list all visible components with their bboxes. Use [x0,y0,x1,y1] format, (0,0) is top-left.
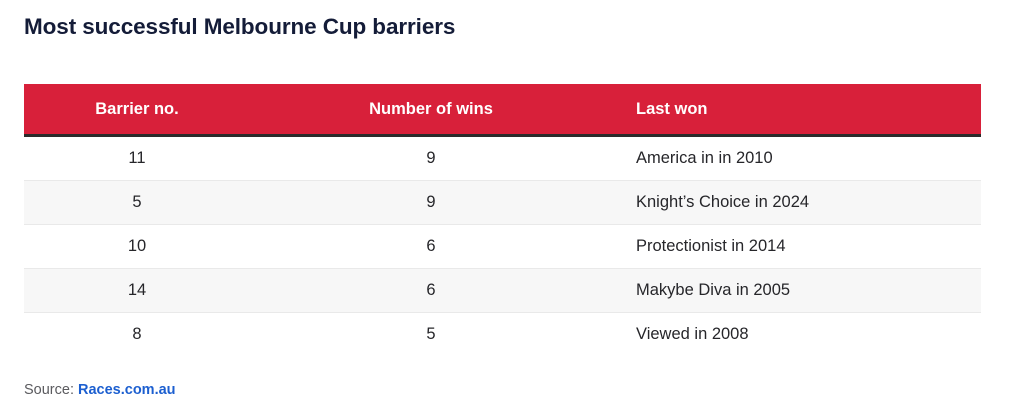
barriers-table: Barrier no. Number of wins Last won 11 9… [24,84,981,356]
table-row: 14 6 Makybe Diva in 2005 [24,269,981,313]
table-body: 11 9 America in in 2010 5 9 Knight’s Cho… [24,136,981,357]
source-line: Source: Races.com.au [24,382,176,398]
column-header-barrier-no[interactable]: Barrier no. [24,84,250,136]
table-row: 5 9 Knight’s Choice in 2024 [24,181,981,225]
cell-barrier-no: 14 [24,269,250,313]
table-row: 8 5 Viewed in 2008 [24,313,981,357]
cell-last-won: Protectionist in 2014 [612,225,981,269]
cell-number-of-wins: 5 [250,313,612,357]
source-link[interactable]: Races.com.au [78,382,176,398]
cell-number-of-wins: 6 [250,269,612,313]
table-row: 10 6 Protectionist in 2014 [24,225,981,269]
cell-barrier-no: 11 [24,136,250,181]
cell-number-of-wins: 6 [250,225,612,269]
cell-last-won: Viewed in 2008 [612,313,981,357]
cell-barrier-no: 5 [24,181,250,225]
table-row: 11 9 America in in 2010 [24,136,981,181]
cell-barrier-no: 8 [24,313,250,357]
cell-last-won: Knight’s Choice in 2024 [612,181,981,225]
cell-number-of-wins: 9 [250,136,612,181]
cell-last-won: Makybe Diva in 2005 [612,269,981,313]
column-header-number-of-wins[interactable]: Number of wins [250,84,612,136]
barriers-table-container: Barrier no. Number of wins Last won 11 9… [24,84,981,356]
cell-last-won: America in in 2010 [612,136,981,181]
table-header: Barrier no. Number of wins Last won [24,84,981,136]
chart-card: Most successful Melbourne Cup barriers B… [0,0,1024,410]
cell-barrier-no: 10 [24,225,250,269]
cell-number-of-wins: 9 [250,181,612,225]
table-header-row: Barrier no. Number of wins Last won [24,84,981,136]
page-title: Most successful Melbourne Cup barriers [24,14,455,40]
source-label: Source: [24,382,78,398]
column-header-last-won[interactable]: Last won [612,84,981,136]
